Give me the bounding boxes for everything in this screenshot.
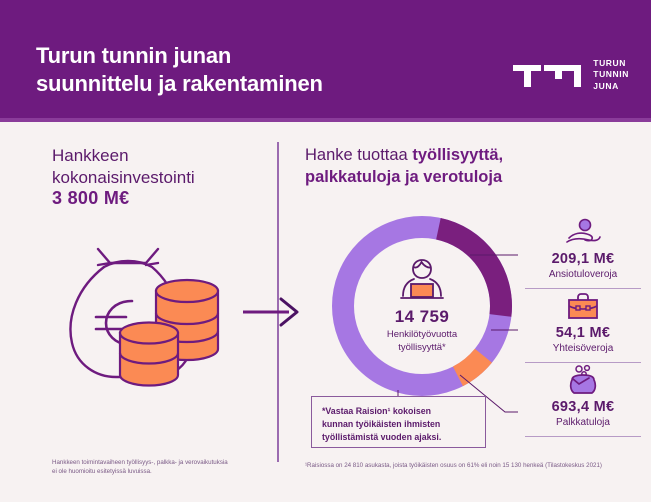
money-bag-with-coins-icon [58,243,248,393]
logo-wordmark: TURUN TUNNIN JUNA [593,58,629,92]
footnote-left: Hankkeen toimintavaiheen työllisyys-, pa… [52,458,267,477]
page-title: Turun tunnin junan suunnittelu ja rakent… [36,42,476,97]
hand-with-coin-icon [518,214,648,248]
infographic-root: Turun tunnin junan suunnittelu ja rakent… [0,0,651,502]
header-underline [0,118,651,122]
donut-chart-svg [322,206,522,406]
stat-card-ansiotuloveroja[interactable]: 209,1 M€ Ansiotuloveroja [518,214,648,289]
stat-card-palkkatuloja[interactable]: 693,4 M€ Palkkatuloja [518,362,648,437]
results-heading: Hanke tuottaa työllisyyttä, palkkatuloja… [305,145,595,189]
callout-text: *Vastaa Raision¹ kokoisen kunnan työikäi… [322,405,475,445]
stat-divider [525,436,641,438]
stat-label: Palkkatuloja [518,417,648,429]
stat-value: 209,1 M€ [518,251,648,268]
donut-chart: 14 759 Henkilötyövuotta työllisyyttä* [322,206,522,406]
briefcase-icon [518,288,648,322]
results-heading-bold-2: palkkatuloja ja verotuloja [305,168,502,186]
stat-label: Ansiotuloveroja [518,269,648,281]
stat-card-yhteisoveroja[interactable]: 54,1 M€ Yhteisöveroja [518,288,648,363]
investment-amount: 3 800 M€ [52,188,267,209]
coin-purse-icon [518,362,648,396]
footnote-right: ¹Raisiossa on 24 810 asukasta, joista ty… [305,461,650,470]
callout-box: *Vastaa Raision¹ kokoisen kunnan työikäi… [311,396,486,448]
ttj-logo-mark-icon [511,57,585,93]
arrow-right-icon [243,295,305,329]
investment-heading: Hankkeen kokonaisinvestointi [52,145,267,189]
results-heading-plain: Hanke tuottaa [305,146,412,164]
brand-logo: TURUN TUNNIN JUNA [511,52,629,98]
results-heading-bold-1: työllisyyttä, [412,146,503,164]
stat-label: Yhteisöveroja [518,343,648,355]
stat-value: 693,4 M€ [518,399,648,416]
donut-segment-ansiotuloveroja [328,212,515,399]
page-header: Turun tunnin junan suunnittelu ja rakent… [0,0,651,122]
stat-value: 54,1 M€ [518,325,648,342]
